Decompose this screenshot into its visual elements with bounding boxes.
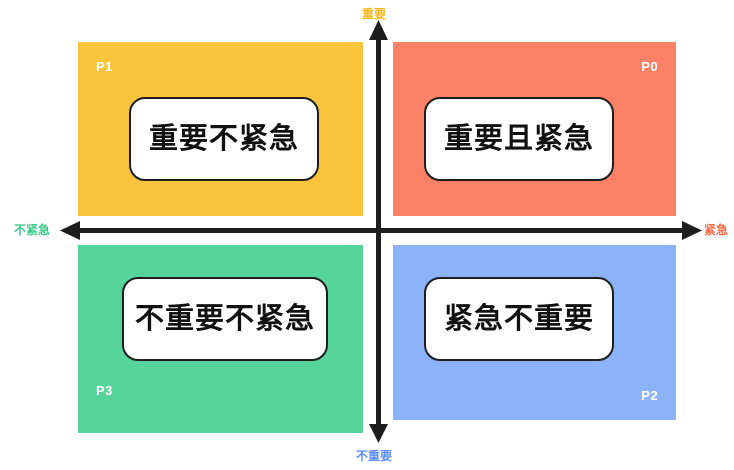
quadrant-label-p2: 紧急不重要 xyxy=(444,305,594,334)
axis-label-urgent: 紧急 xyxy=(704,224,728,236)
axis-arrow-right-icon xyxy=(682,221,702,240)
quadrant-label-box-p1: 重要不紧急 xyxy=(129,97,319,181)
quadrant-code-p3: P3 xyxy=(96,384,113,397)
quadrant-label-box-p2: 紧急不重要 xyxy=(424,277,614,361)
quadrant-code-p2: P2 xyxy=(641,389,658,402)
quadrant-code-p1: P1 xyxy=(96,60,113,73)
eisenhower-matrix-diagram: P1 P0 P3 P2 重要不紧急 重要且紧急 不重要不紧急 xyxy=(0,0,734,470)
quadrant-label-box-p3: 不重要不紧急 xyxy=(122,277,328,361)
quadrant-code-p0: P0 xyxy=(641,60,658,73)
axis-label-not-important: 不重要 xyxy=(356,450,392,462)
quadrant-label-box-p0: 重要且紧急 xyxy=(424,97,614,181)
axis-arrow-up-icon xyxy=(369,20,388,40)
quadrant-label-p0: 重要且紧急 xyxy=(444,125,594,154)
quadrant-label-p3: 不重要不紧急 xyxy=(135,305,315,334)
quadrant-label-p1: 重要不紧急 xyxy=(149,125,299,154)
axis-label-important: 重要 xyxy=(362,8,386,20)
axis-label-not-urgent: 不紧急 xyxy=(14,224,50,236)
axis-arrow-down-icon xyxy=(369,424,388,443)
axis-arrow-left-icon xyxy=(60,221,80,240)
